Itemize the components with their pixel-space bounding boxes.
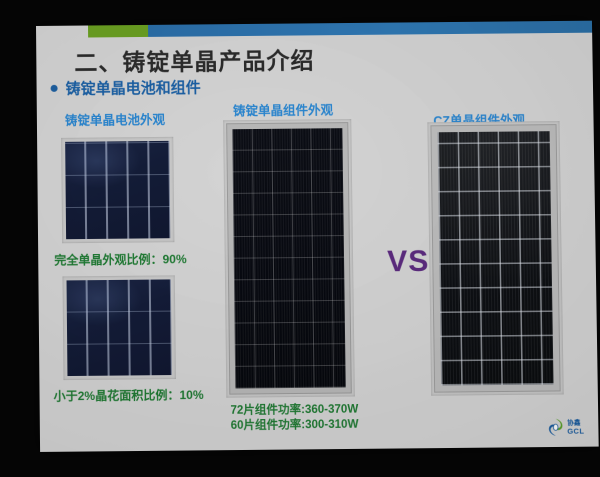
bullet-label: 铸锭单晶电池和组件 [66,76,201,98]
cz-mono-module-cell-grid [438,131,554,385]
top-bar-pad [36,26,88,38]
bullet-dot-icon [51,85,58,92]
top-bar-blue [148,21,592,37]
solar-cell-image-bottom [62,275,175,380]
module-power-specs: 72片组件功率:360-370W 60片组件功率:300-310W [230,402,358,433]
gcl-logo-en: GCL [567,427,584,435]
cast-mono-module-cell-grid [232,128,345,388]
versus-label: VS [387,245,430,280]
solar-cell-surface-top [65,141,170,239]
column-heading-cast-mono-module: 铸锭单晶组件外观 [233,99,333,119]
cast-mono-module-image [223,119,355,398]
top-bar-green [88,25,148,38]
cz-mono-module-frame [430,124,560,393]
column-heading-cast-mono-cell: 铸锭单晶电池外观 [65,109,165,129]
caption-crystal-area-ratio: 小于2%晶花面积比例：10% [54,386,204,405]
slide-perspective-wrapper: 二、铸锭单晶产品介绍 铸锭单晶电池和组件 铸锭单晶电池外观 铸锭单晶组件外观 C… [36,21,599,452]
solar-cell-surface-bottom [67,279,172,376]
cast-mono-module-frame [226,122,352,395]
solar-cell-image-top [61,137,174,243]
spec-72-cell: 72片组件功率:360-370W [230,402,358,418]
gcl-logo: 协鑫 GCL [547,417,585,437]
gcl-logo-text: 协鑫 GCL [567,419,584,435]
spec-60-cell: 60片组件功率:300-310W [231,418,359,434]
cz-mono-module-image [427,121,563,396]
projector-photo: 二、铸锭单晶产品介绍 铸锭单晶电池和组件 铸锭单晶电池外观 铸锭单晶组件外观 C… [0,0,600,477]
slide-top-bars [36,21,592,38]
presentation-slide: 二、铸锭单晶产品介绍 铸锭单晶电池和组件 铸锭单晶电池外观 铸锭单晶组件外观 C… [36,21,599,452]
caption-full-mono-ratio: 完全单晶外观比例：90% [54,250,187,268]
page-title: 二、铸锭单晶产品介绍 [74,41,314,77]
bullet-row: 铸锭单晶电池和组件 [51,76,201,98]
gcl-mark-icon [547,418,564,437]
